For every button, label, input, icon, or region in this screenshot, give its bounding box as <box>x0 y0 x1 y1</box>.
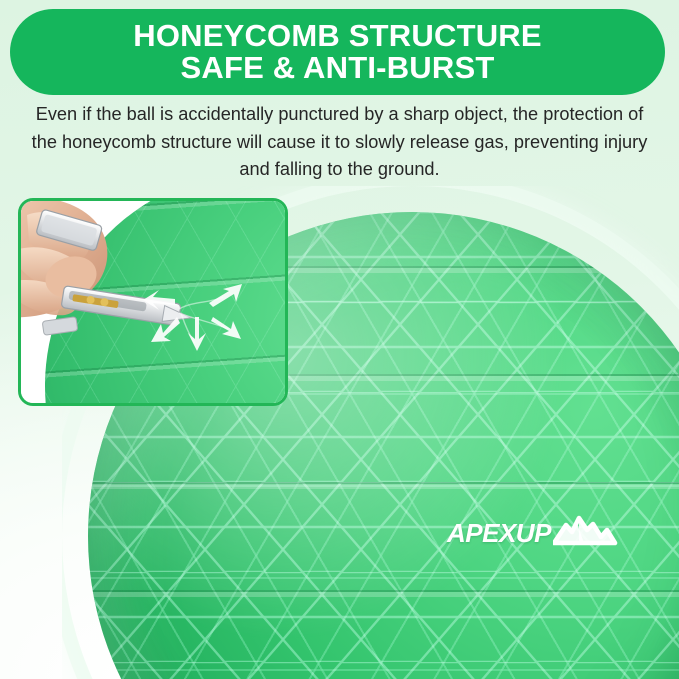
puncture-demo-photo <box>21 201 285 403</box>
product-ball-label: green-honeycomb-exercise-ball <box>0 0 1 1</box>
brand-logo: APEXUP <box>447 512 627 546</box>
description-text: Even if the ball is accidentally punctur… <box>30 101 649 184</box>
headline-banner: HONEYCOMB STRUCTURE SAFE & ANTI-BURST <box>10 9 665 95</box>
puncture-demo-inset <box>18 198 288 406</box>
slow-gas-release-arrows-icon <box>139 279 259 379</box>
product-feature-panel: APEXUP HONEYCOMB STRUCTURE SAFE & ANTI-B… <box>0 0 679 679</box>
inset-caption: hand holding a utility knife blade punct… <box>0 0 1 1</box>
brand-logo-text: APEXUP <box>447 520 551 546</box>
headline-line-1: HONEYCOMB STRUCTURE <box>133 20 542 52</box>
headline-line-2: SAFE & ANTI-BURST <box>181 52 495 84</box>
mountain-peaks-icon <box>553 512 627 546</box>
